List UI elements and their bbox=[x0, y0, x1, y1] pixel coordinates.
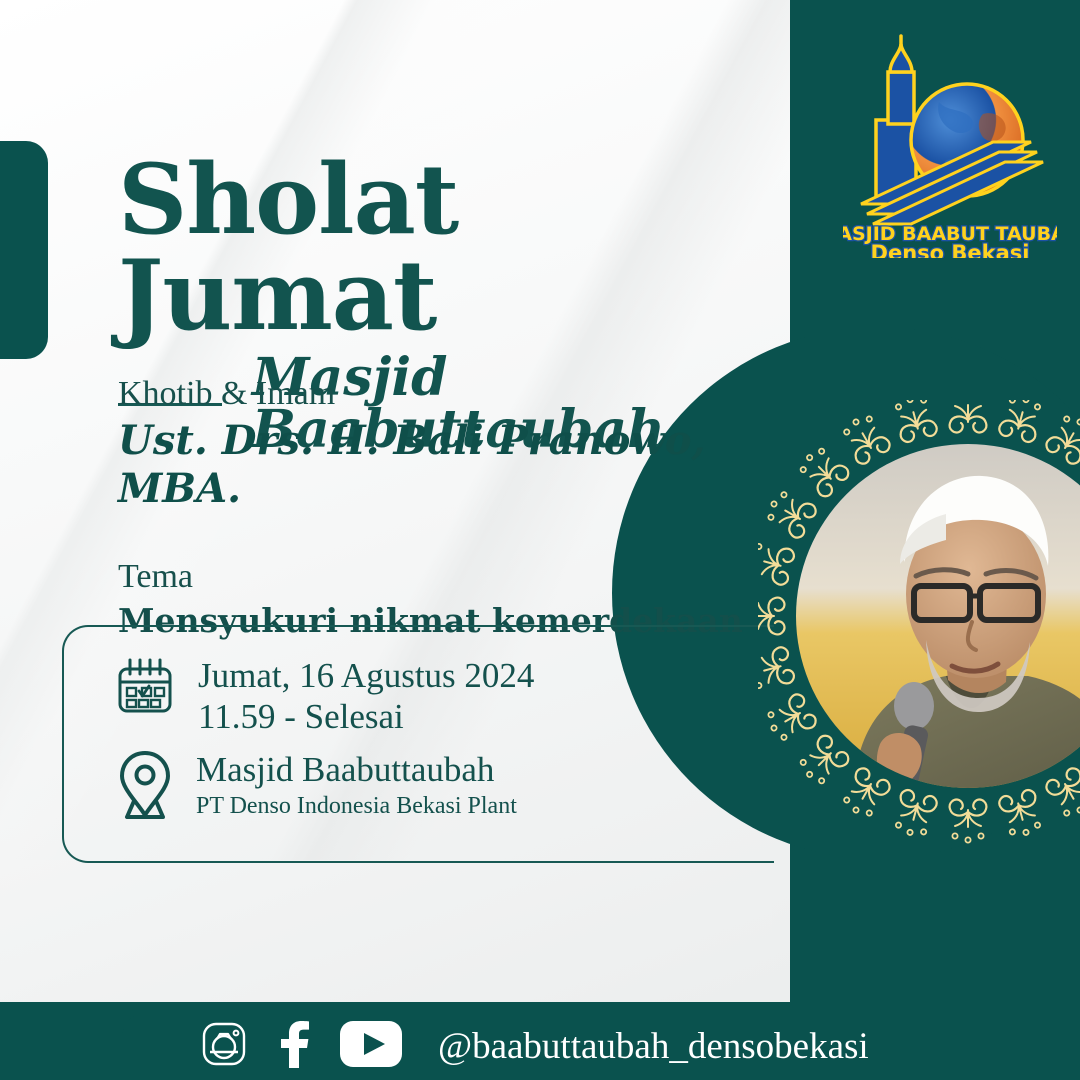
venue-name: Masjid Baabuttaubah bbox=[196, 749, 517, 790]
schedule-text: Jumat, 16 Agustus 2024 11.59 - Selesai bbox=[198, 655, 534, 738]
social-handle[interactable]: @baabuttaubah_densobekasi bbox=[438, 1025, 869, 1068]
page-title: Sholat Jumat bbox=[118, 152, 778, 344]
poster-canvas: Sholat Jumat Masjid Baabuttaubah Khotib … bbox=[0, 0, 1080, 1080]
venue-text: Masjid Baabuttaubah PT Denso Indonesia B… bbox=[196, 749, 517, 821]
speaker-name: Ust. Drs. H. Bali Pranowo, MBA. bbox=[118, 417, 758, 513]
speaker-portrait-block bbox=[758, 400, 1080, 892]
venue-row: Masjid Baabuttaubah PT Denso Indonesia B… bbox=[116, 749, 517, 826]
logo-line-2: Denso Bekasi bbox=[871, 241, 1030, 258]
instagram-icon[interactable] bbox=[200, 1020, 248, 1073]
mosque-logo: MASJID BAABUT TAUBAH Denso Bekasi bbox=[843, 28, 1057, 258]
youtube-icon[interactable] bbox=[340, 1021, 402, 1072]
panel-lower-block bbox=[0, 860, 772, 1002]
speaker-label: Khotib & Imam bbox=[118, 374, 758, 415]
event-date: Jumat, 16 Agustus 2024 bbox=[198, 655, 534, 696]
left-accent-tab bbox=[0, 141, 48, 359]
details-block: Khotib & Imam Ust. Drs. H. Bali Pranowo,… bbox=[118, 374, 758, 641]
social-footer: @baabuttaubah_densobekasi bbox=[122, 1012, 1080, 1080]
speaker-photo bbox=[796, 444, 1080, 788]
facebook-icon[interactable] bbox=[274, 1020, 314, 1073]
map-pin-icon bbox=[116, 749, 174, 826]
theme-label: Tema bbox=[118, 557, 758, 598]
venue-detail: PT Denso Indonesia Bekasi Plant bbox=[196, 792, 517, 821]
event-time: 11.59 - Selesai bbox=[198, 696, 534, 737]
schedule-row: Jumat, 16 Agustus 2024 11.59 - Selesai bbox=[114, 655, 534, 738]
calendar-check-icon bbox=[114, 655, 176, 722]
event-info-card: Jumat, 16 Agustus 2024 11.59 - Selesai M… bbox=[62, 625, 774, 863]
